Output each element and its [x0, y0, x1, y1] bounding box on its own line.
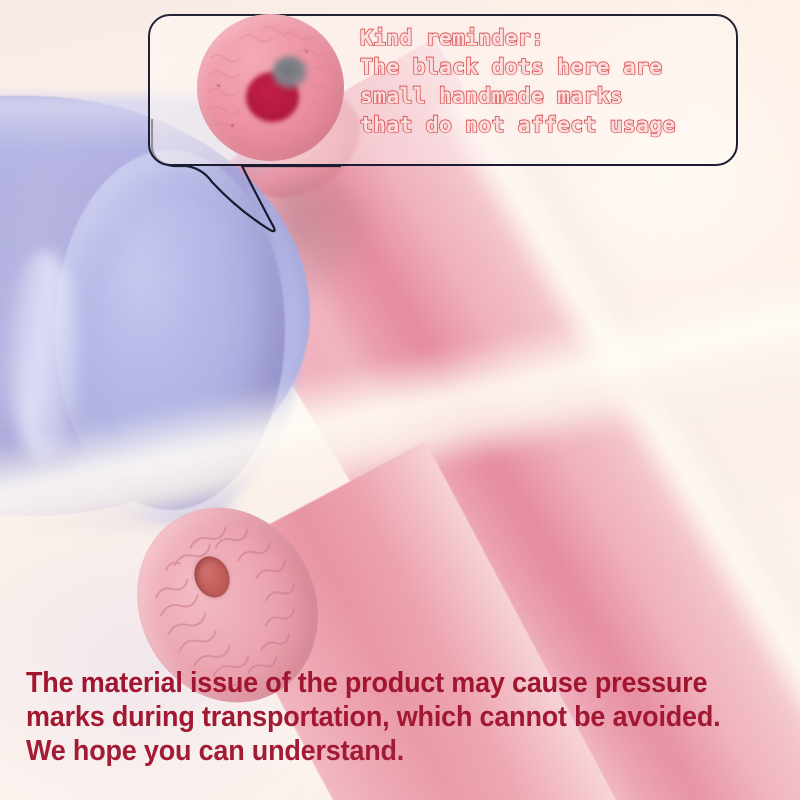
- callout-text-block: Kind reminder: The black dots here are s…: [360, 24, 740, 140]
- callout-line-title: Kind reminder:: [360, 24, 740, 53]
- inset-speck: [305, 50, 308, 53]
- callout-line-3: small handmade marks: [360, 82, 740, 111]
- disclaimer-line-1: The material issue of the product may ca…: [26, 666, 733, 700]
- callout-line-2: The black dots here are: [360, 53, 740, 82]
- disclaimer-line-3: We hope you can understand.: [26, 734, 733, 768]
- inset-speck: [231, 124, 234, 127]
- magnified-cylinder-end-inset: [197, 14, 344, 161]
- product-notice-image: Kind reminder: The black dots here are s…: [0, 0, 800, 800]
- disclaimer-line-2: marks during transportation, which canno…: [26, 700, 733, 734]
- callout-line-4: that do not affect usage: [360, 111, 740, 140]
- inset-speck: [217, 84, 220, 87]
- inset-black-dot-mark: [272, 56, 308, 89]
- transportation-disclaimer: The material issue of the product may ca…: [26, 666, 786, 768]
